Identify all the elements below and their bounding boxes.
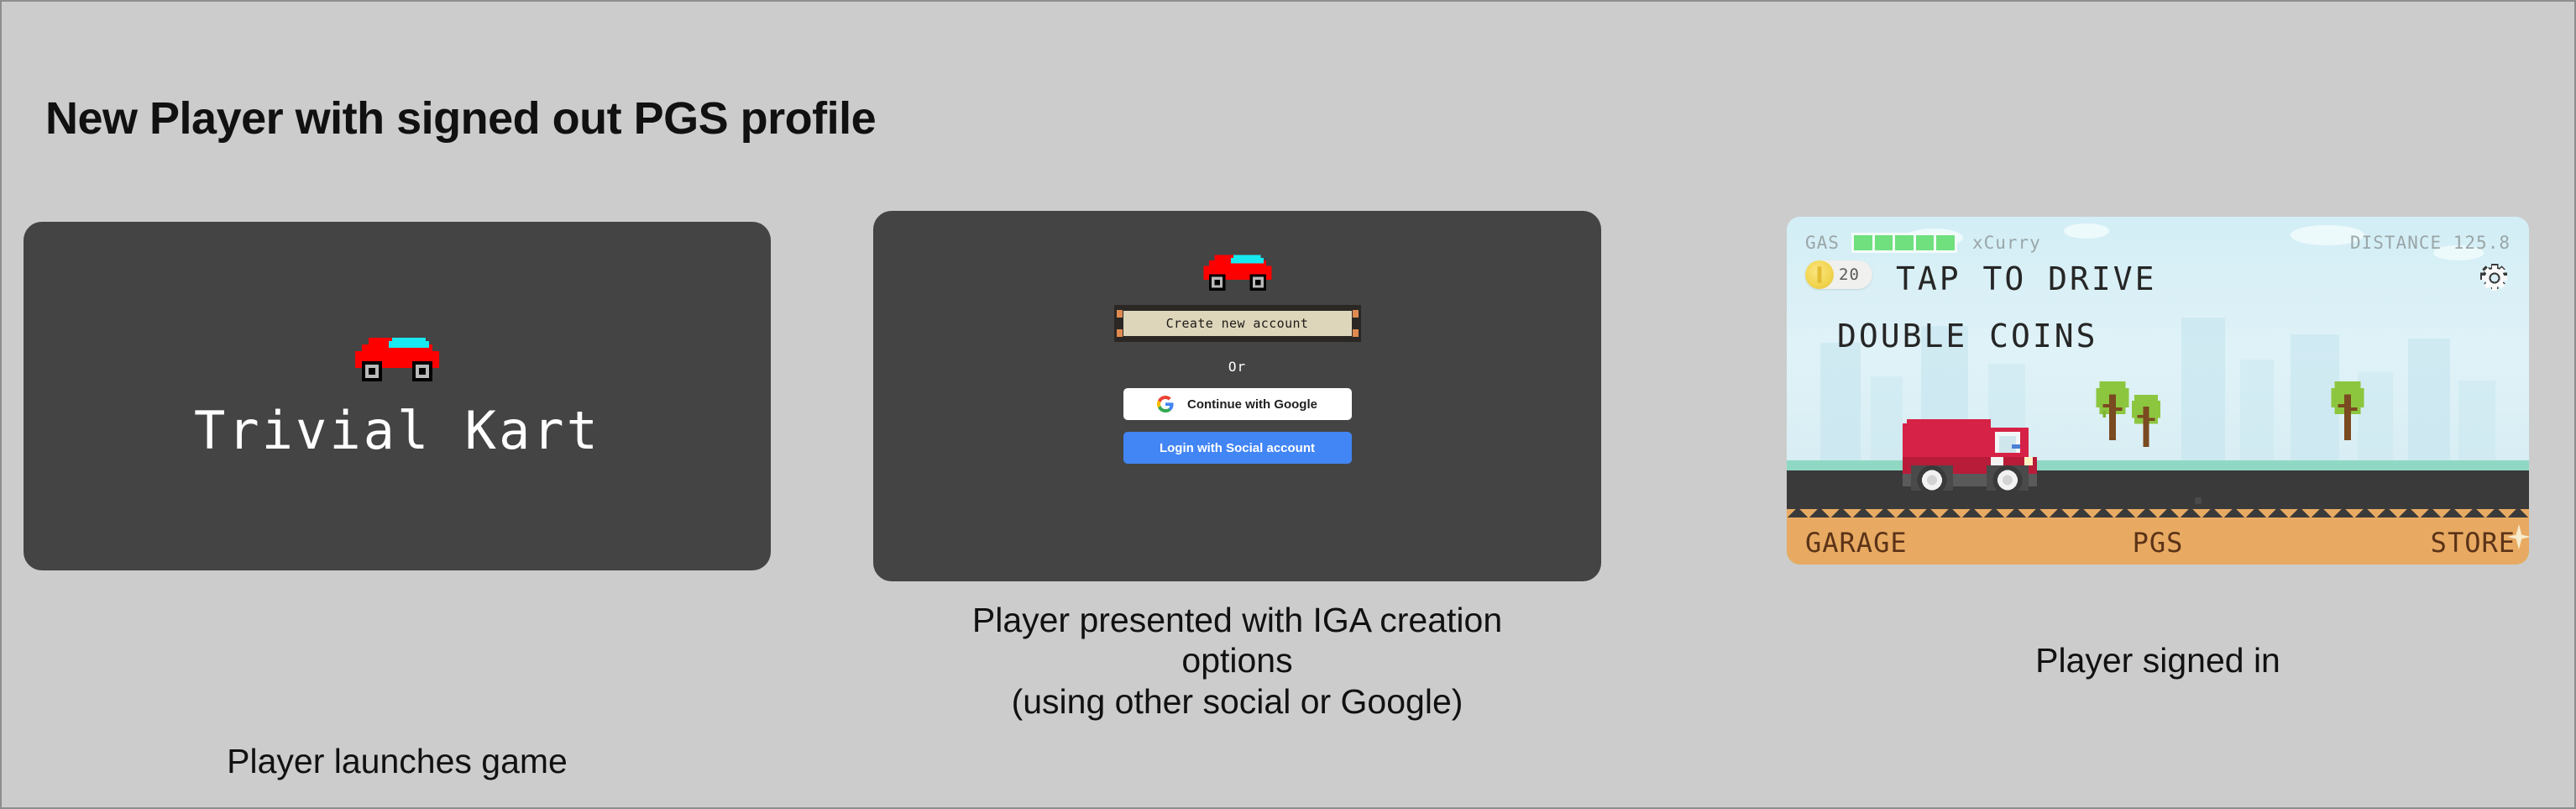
panel-auth-options: Create new account Or Continue with Goog… [873, 211, 1601, 581]
login-with-social-button[interactable]: Login with Social account [1123, 432, 1352, 464]
panel-game-screen: GAS xCurry DISTANCE 125.8 20 TAP TO DRIV… [1787, 217, 2529, 565]
auth-content: Create new account Or Continue with Goog… [873, 211, 1601, 581]
login-with-social-label: Login with Social account [1160, 441, 1315, 455]
gear-icon[interactable] [2480, 264, 2509, 292]
continue-with-google-button[interactable]: Continue with Google [1123, 388, 1352, 420]
tree-decor [2131, 395, 2161, 447]
gas-segment [1916, 235, 1937, 250]
game-title: Trivial Kart [194, 400, 600, 461]
create-new-account-button[interactable]: Create new account [1123, 305, 1352, 342]
gas-segment [1875, 235, 1896, 250]
hud-top-row: GAS xCurry DISTANCE 125.8 [1805, 232, 2511, 254]
tap-to-drive-text: TAP TO DRIVE [1896, 260, 2157, 297]
gas-segment [1854, 235, 1875, 250]
tree-decor [2096, 381, 2129, 440]
horizon-strip [1787, 460, 2529, 470]
create-new-account-label: Create new account [1166, 316, 1309, 331]
gas-label: GAS [1805, 233, 1840, 253]
double-coins-text: DOUBLE COINS [1837, 318, 2098, 355]
nav-garage[interactable]: GARAGE [1805, 527, 1908, 559]
distance-readout: DISTANCE 125.8 [2350, 233, 2511, 253]
caption-panel-3: Player signed in [1787, 640, 2529, 680]
google-g-icon [1157, 396, 1174, 412]
player-username: xCurry [1972, 233, 2041, 253]
road-detail [2195, 497, 2202, 504]
coin-balance-badge: 20 [1805, 260, 1872, 289]
tree-decor [2331, 381, 2364, 440]
coin-count: 20 [1839, 265, 1860, 284]
gas-meter [1851, 233, 1957, 253]
nav-pgs[interactable]: PGS [2133, 527, 2184, 559]
caption-line-2: options [873, 640, 1601, 680]
game-bottom-nav: GARAGE PGS STORE [1787, 521, 2529, 565]
caption-line-3: (using other social or Google) [873, 681, 1601, 722]
caption-panel-1: Player launches game [24, 741, 771, 781]
gas-segment [1936, 235, 1955, 250]
gas-segment [1895, 235, 1916, 250]
caption-panel-2: Player presented with IGA creation optio… [873, 600, 1601, 722]
splash-content: Trivial Kart [24, 222, 771, 570]
button-corner-accent [1353, 310, 1359, 318]
button-corner-accent [1117, 329, 1123, 337]
or-separator-label: Or [1228, 359, 1246, 375]
pixel-car-icon [348, 331, 447, 385]
button-corner-accent [1117, 310, 1123, 318]
slide-root: { "page": { "title": "New Player with si… [0, 0, 2576, 809]
panel-splash-screen: Trivial Kart [24, 222, 771, 570]
pixel-car-icon [1197, 250, 1278, 293]
button-corner-accent [1353, 329, 1359, 337]
continue-with-google-label: Continue with Google [1187, 397, 1317, 412]
caption-line-1: Player presented with IGA creation [873, 600, 1601, 640]
nav-store[interactable]: STORE [2431, 527, 2516, 559]
page-title: New Player with signed out PGS profile [45, 92, 876, 144]
coin-icon [1805, 260, 1834, 289]
player-truck-sprite [1903, 407, 2062, 499]
